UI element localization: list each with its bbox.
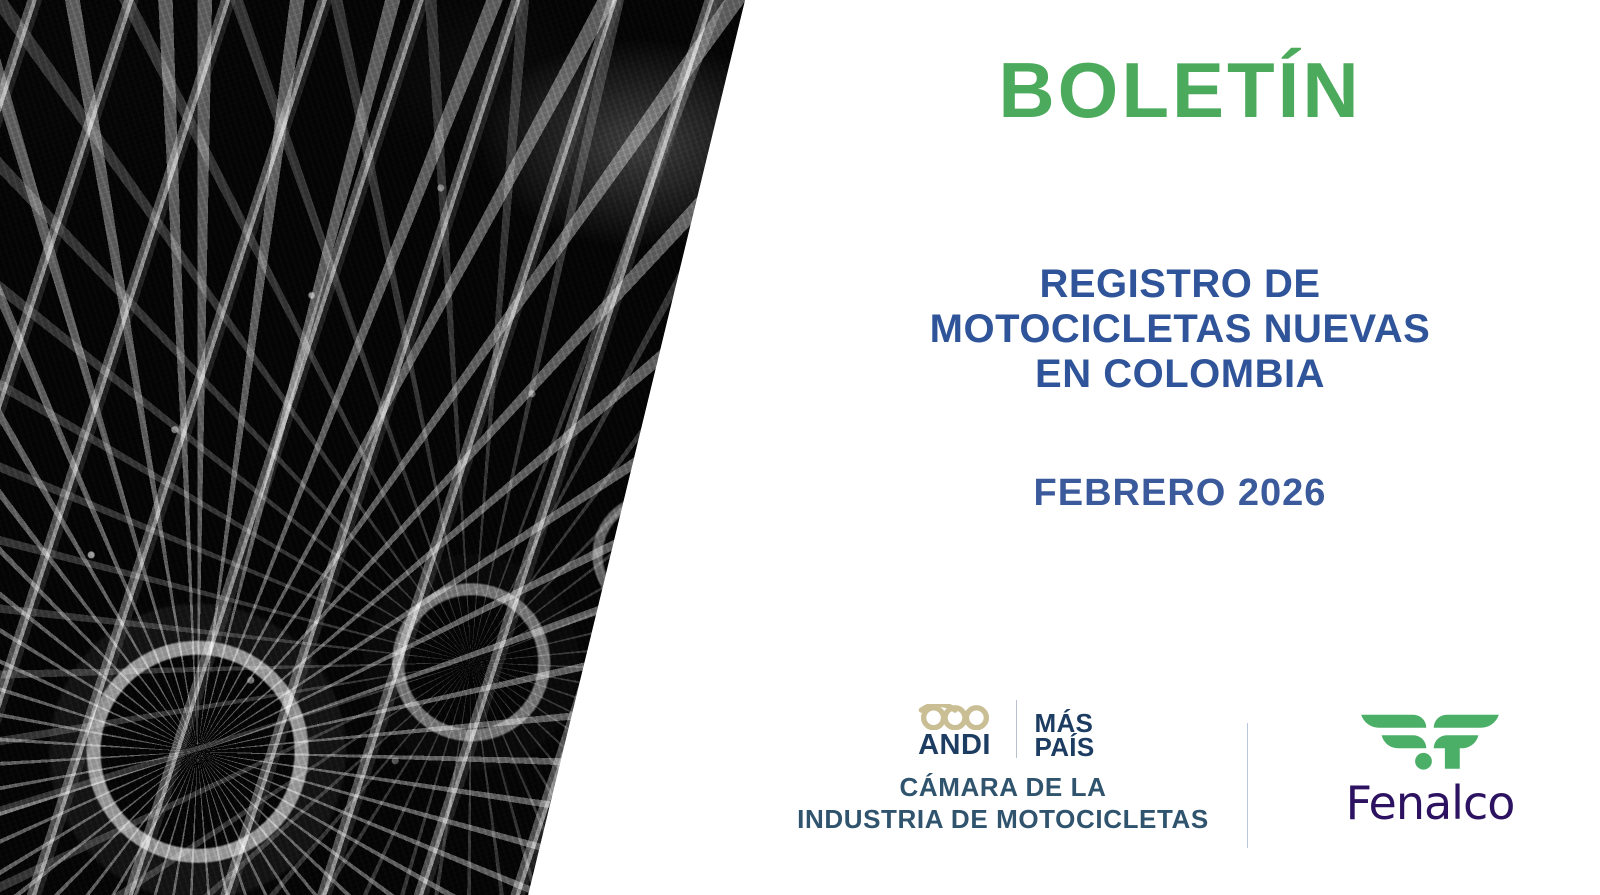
page-title-line-2: MOTOCICLETAS NUEVAS <box>760 307 1600 352</box>
andi-tagline-line-2: PAÍS <box>1035 735 1095 760</box>
andi-logo-top: ANDI MÁS PAÍS <box>768 690 1238 760</box>
cover-photo-image <box>0 0 760 895</box>
kicker-boletin: BOLETÍN <box>760 50 1600 132</box>
page-title: REGISTRO DE MOTOCICLETAS NUEVAS EN COLOM… <box>760 262 1600 396</box>
andi-mark-and-word: ANDI <box>912 704 1016 760</box>
logo-separator <box>1247 723 1248 848</box>
page-title-line-3: EN COLOMBIA <box>760 352 1600 397</box>
andi-caption-line-2: INDUSTRIA DE MOTOCICLETAS <box>768 804 1238 836</box>
bulletin-cover-page: BOLETÍN REGISTRO DE MOTOCICLETAS NUEVAS … <box>0 0 1600 895</box>
fenalco-wing-icon <box>1355 698 1505 778</box>
fenalco-wordmark: Fenalco <box>1280 780 1580 826</box>
page-title-line-1: REGISTRO DE <box>760 262 1600 307</box>
andi-wordmark: ANDI <box>918 731 991 760</box>
cover-content-column: BOLETÍN REGISTRO DE MOTOCICLETAS NUEVAS … <box>760 0 1600 895</box>
andi-logo: ANDI MÁS PAÍS CÁMARA DE LA INDUSTRIA DE … <box>768 690 1238 835</box>
andi-caption-line-1: CÁMARA DE LA <box>768 772 1238 804</box>
andi-rings-icon <box>912 704 998 730</box>
logo-row: ANDI MÁS PAÍS CÁMARA DE LA INDUSTRIA DE … <box>760 690 1600 860</box>
cover-photo-motorcycles <box>0 0 760 895</box>
publication-date: FEBRERO 2026 <box>760 472 1600 515</box>
fenalco-logo: Fenalco <box>1280 698 1580 826</box>
andi-tagline: MÁS PAÍS <box>1017 711 1095 760</box>
andi-caption: CÁMARA DE LA INDUSTRIA DE MOTOCICLETAS <box>768 772 1238 835</box>
